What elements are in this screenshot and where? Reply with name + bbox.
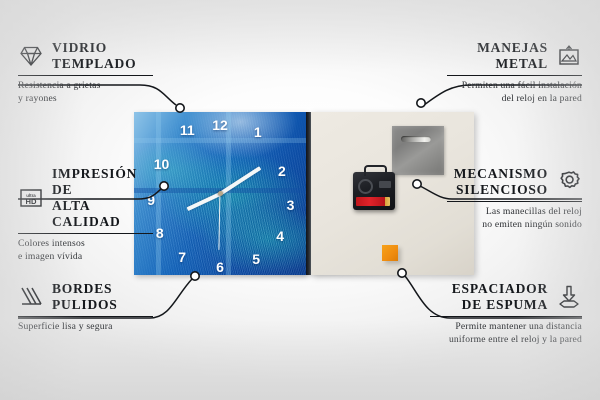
wall-hanger-icon xyxy=(556,43,582,69)
callout-desc-line1: Las manecillas del reloj xyxy=(447,206,582,218)
grid-line-vertical xyxy=(226,112,231,275)
mechanism-setting-dial xyxy=(358,179,373,194)
hanger-keyhole-slot xyxy=(401,136,431,142)
grid-line-horizontal xyxy=(134,138,306,143)
clock-numeral-12: 12 xyxy=(212,118,228,132)
clock-numeral-11: 11 xyxy=(180,123,195,137)
clock-numeral-3: 3 xyxy=(287,198,295,212)
connector-dot-vidrio-templado xyxy=(176,104,184,112)
clock-numeral-1: 1 xyxy=(254,125,262,139)
callout-title-line1: IMPRESIÓN DE xyxy=(52,166,153,198)
callout-title-line1: ESPACIADOR xyxy=(452,281,548,297)
clock-numeral-7: 7 xyxy=(178,250,186,264)
callout-impresion-alta-calidad[interactable]: ultra HD IMPRESIÓN DE ALTA CALIDAD Color… xyxy=(18,166,153,263)
clock-numeral-5: 5 xyxy=(252,252,260,266)
connector-dot-manejas xyxy=(417,99,425,107)
wall-hanger-plate xyxy=(392,126,444,175)
callout-desc-line2: uniforme entre el reloj y la pared xyxy=(430,334,582,346)
callout-title-line2: TEMPLADO xyxy=(52,56,136,72)
callout-espaciador-espuma[interactable]: ESPACIADOR DE ESPUMA Permite mantener un… xyxy=(430,281,582,346)
callout-title-line2: METAL xyxy=(477,56,548,72)
foam-spacer-pad xyxy=(382,245,398,261)
clock-numeral-4: 4 xyxy=(276,229,284,243)
foam-spacer-icon xyxy=(556,284,582,310)
ultra-hd-icon: ultra HD xyxy=(18,185,44,211)
callout-rule xyxy=(18,233,153,235)
quartz-mechanism xyxy=(353,172,395,210)
mechanism-label xyxy=(379,181,391,188)
callout-desc-line1: Permite mantener una distancia xyxy=(430,321,582,333)
clock-numeral-8: 8 xyxy=(156,226,164,240)
callout-desc-line1: Superficie lisa y segura xyxy=(18,321,153,333)
callout-rule xyxy=(447,75,582,77)
callout-title-line2: DE ESPUMA xyxy=(452,297,548,313)
callout-rule xyxy=(430,316,582,318)
callout-desc-line2: del reloj en la pared xyxy=(447,93,582,105)
product-image: 12 1 2 3 4 5 6 7 8 9 10 11 xyxy=(134,112,474,275)
callout-rule xyxy=(18,316,153,318)
callout-title-line2: SILENCIOSO xyxy=(454,182,548,198)
svg-text:HD: HD xyxy=(26,197,37,206)
polished-edges-icon xyxy=(18,284,44,310)
callout-title-line2: ALTA CALIDAD xyxy=(52,198,153,230)
callout-mecanismo-silencioso[interactable]: MECANISMO SILENCIOSO Las manecillas del … xyxy=(447,166,582,231)
diamond-icon xyxy=(18,43,44,69)
callout-desc-line2: e imagen vívida xyxy=(18,251,153,263)
mechanism-bail xyxy=(364,165,387,176)
callout-title-line1: MECANISMO xyxy=(454,166,548,182)
callout-desc-line1: Permiten una fácil instalación xyxy=(447,80,582,92)
battery xyxy=(356,197,390,206)
callout-title-line2: PULIDOS xyxy=(52,297,118,313)
callout-desc-line2: y rayones xyxy=(18,93,153,105)
callout-manejas-metal[interactable]: MANEJAS METAL Permiten una fácil instala… xyxy=(447,40,582,105)
grid-line-vertical xyxy=(156,112,161,275)
callout-desc-line2: no emiten ningún sonido xyxy=(447,219,582,231)
callout-title-line1: BORDES xyxy=(52,281,118,297)
callout-title-line1: MANEJAS xyxy=(477,40,548,56)
callout-desc-line1: Colores intensos xyxy=(18,238,153,250)
clock-numeral-6: 6 xyxy=(216,260,224,274)
clock-numeral-10: 10 xyxy=(154,157,170,171)
callout-vidrio-templado[interactable]: VIDRIO TEMPLADO Resistencia a grietas y … xyxy=(18,40,153,105)
callout-bordes-pulidos[interactable]: BORDES PULIDOS Superficie lisa y segura xyxy=(18,281,153,334)
gear-icon xyxy=(556,169,582,195)
clock-center-cap xyxy=(218,191,223,196)
infographic-canvas: 12 1 2 3 4 5 6 7 8 9 10 11 xyxy=(0,0,600,400)
clock-face-front: 12 1 2 3 4 5 6 7 8 9 10 11 xyxy=(134,112,306,275)
callout-desc-line1: Resistencia a grietas xyxy=(18,80,153,92)
clock-numeral-2: 2 xyxy=(278,164,286,178)
callout-rule xyxy=(18,75,153,77)
callout-rule xyxy=(447,201,582,203)
callout-title-line1: VIDRIO xyxy=(52,40,136,56)
